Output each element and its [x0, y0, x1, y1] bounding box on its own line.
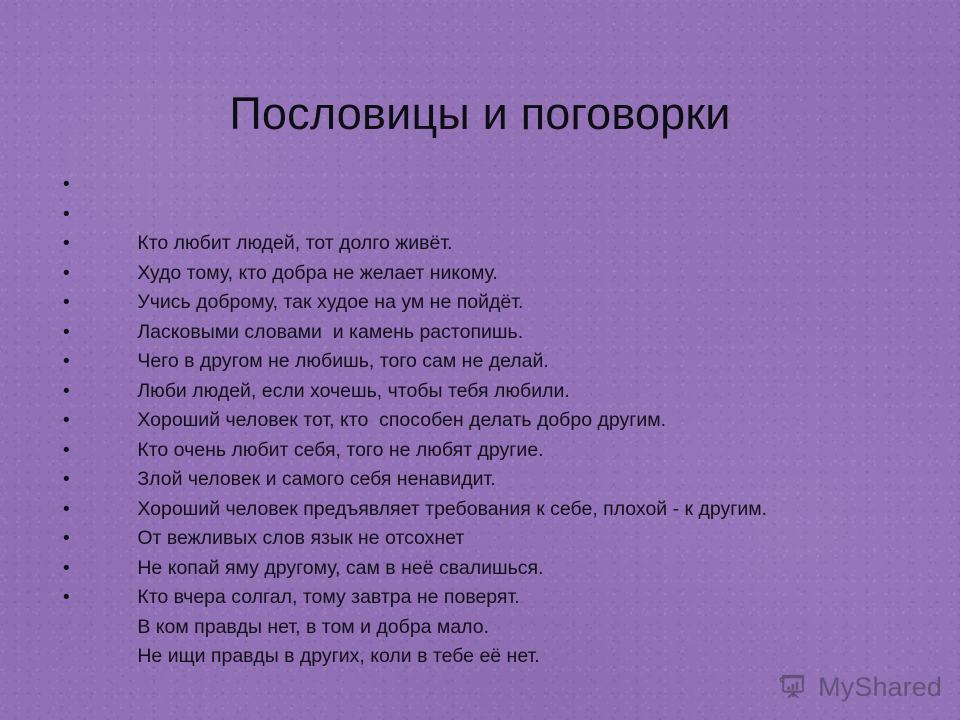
slide-content: Пословицы и поговорки • Кто любит людей,… — [0, 0, 960, 720]
bullet-icon: • — [63, 554, 75, 584]
proverb-list: • Кто любит людей, тот долго живёт. • Ху… — [62, 170, 922, 613]
bullet-icon: • — [63, 524, 75, 554]
list-item: • Ласковыми словами и камень растопишь. — [62, 259, 922, 289]
bullet-icon: • — [63, 465, 75, 495]
list-item: • Чего в другом не любишь, того сам не д… — [62, 288, 922, 318]
list-item: • От вежливых слов язык не отсохнет — [62, 465, 922, 495]
list-item: • Кто вчера солгал, тому завтра не повер… — [62, 524, 922, 554]
list-item: • Люби людей, если хочешь, чтобы тебя лю… — [62, 318, 922, 348]
list-item: • Хороший человек тот, кто способен дела… — [62, 347, 922, 377]
presentation-board-icon — [779, 672, 809, 702]
bullet-icon: • — [63, 170, 75, 200]
list-item: • Кто очень любит себя, того не любят др… — [62, 377, 922, 407]
presentation-slide: Пословицы и поговорки • Кто любит людей,… — [0, 0, 960, 720]
myshared-watermark: MyShared — [779, 672, 942, 702]
list-item: • Злой человек и самого себя ненавидит. — [62, 406, 922, 436]
slide-title: Пословицы и поговорки — [0, 88, 960, 140]
bullet-icon: • — [63, 436, 75, 466]
bullet-icon: • — [63, 318, 75, 348]
list-item: • В ком правды нет, в том и добра мало. — [62, 554, 922, 584]
list-item: • Не копай яму другому, сам в неё свалиш… — [62, 495, 922, 525]
bullet-icon: • — [63, 200, 75, 230]
bullet-icon: • — [63, 288, 75, 318]
list-item-text: Не ищи правды в других, коли в тебе её н… — [137, 645, 539, 667]
list-item: • Хороший человек предъявляет требования… — [62, 436, 922, 466]
bullet-icon: • — [63, 583, 75, 613]
bullet-icon: • — [63, 259, 75, 289]
list-item: • Худо тому, кто добра не желает никому. — [62, 200, 922, 230]
list-item: • Кто любит людей, тот долго живёт. — [62, 170, 922, 200]
watermark-label: MyShared — [818, 672, 942, 702]
list-item: • Не ищи правды в других, коли в тебе её… — [62, 583, 922, 613]
bullet-icon: • — [63, 406, 75, 436]
list-item-text: В ком правды нет, в том и добра мало. — [137, 616, 489, 638]
list-item: • Учись доброму, так худое на ум не пойд… — [62, 229, 922, 259]
bullet-icon: • — [63, 229, 75, 259]
bullet-icon: • — [63, 377, 75, 407]
bullet-icon: • — [63, 347, 75, 377]
bullet-icon: • — [63, 495, 75, 525]
